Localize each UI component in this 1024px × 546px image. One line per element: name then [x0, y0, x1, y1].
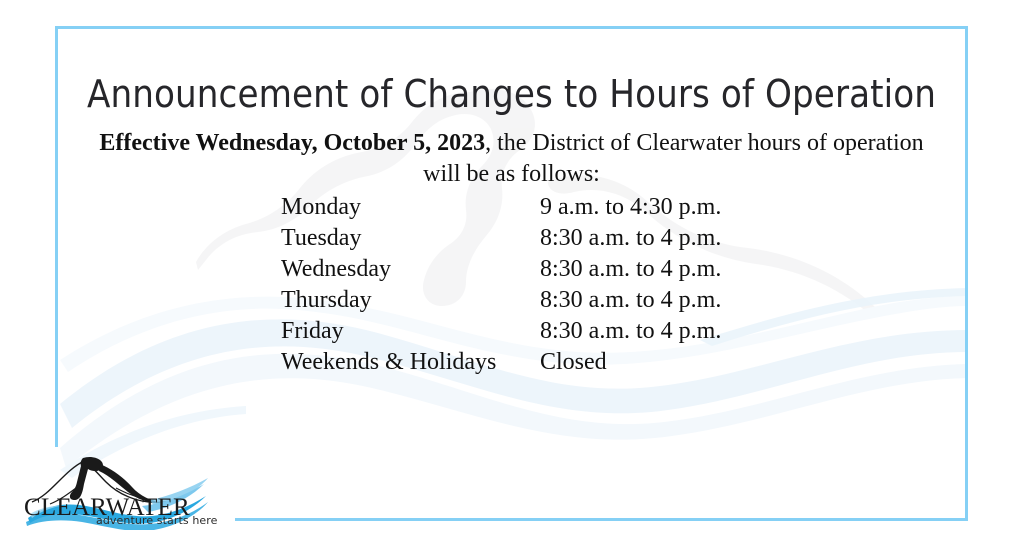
hours-of-operation-table: Monday 9 a.m. to 4:30 p.m. Tuesday 8:30 …: [281, 192, 800, 378]
effective-date-text: Effective Wednesday, October 5, 2023: [99, 130, 485, 156]
table-row: Tuesday 8:30 a.m. to 4 p.m.: [281, 223, 800, 254]
hours-table-body: Monday 9 a.m. to 4:30 p.m. Tuesday 8:30 …: [281, 192, 800, 378]
day-label: Thursday: [281, 285, 540, 316]
intro-rest-text: , the District of Clearwater hours of op…: [423, 130, 923, 187]
table-row: Thursday 8:30 a.m. to 4 p.m.: [281, 285, 800, 316]
day-label: Wednesday: [281, 254, 540, 285]
hours-value: Closed: [540, 347, 800, 378]
table-row: Weekends & Holidays Closed: [281, 347, 800, 378]
table-row: Friday 8:30 a.m. to 4 p.m.: [281, 316, 800, 347]
table-row: Wednesday 8:30 a.m. to 4 p.m.: [281, 254, 800, 285]
hours-value: 9 a.m. to 4:30 p.m.: [540, 192, 800, 223]
day-label: Weekends & Holidays: [281, 347, 540, 378]
hours-value: 8:30 a.m. to 4 p.m.: [540, 223, 800, 254]
day-label: Tuesday: [281, 223, 540, 254]
logo-tagline: adventure starts here: [96, 514, 218, 527]
day-label: Friday: [281, 316, 540, 347]
hours-value: 8:30 a.m. to 4 p.m.: [540, 316, 800, 347]
clearwater-logo: CLEARWATER adventure starts here: [20, 444, 235, 530]
table-row: Monday 9 a.m. to 4:30 p.m.: [281, 192, 800, 223]
page-title: Announcement of Changes to Hours of Oper…: [55, 71, 968, 117]
announcement-slide: Announcement of Changes to Hours of Oper…: [0, 0, 1024, 546]
hours-value: 8:30 a.m. to 4 p.m.: [540, 254, 800, 285]
hours-value: 8:30 a.m. to 4 p.m.: [540, 285, 800, 316]
day-label: Monday: [281, 192, 540, 223]
intro-paragraph: Effective Wednesday, October 5, 2023, th…: [95, 128, 928, 190]
